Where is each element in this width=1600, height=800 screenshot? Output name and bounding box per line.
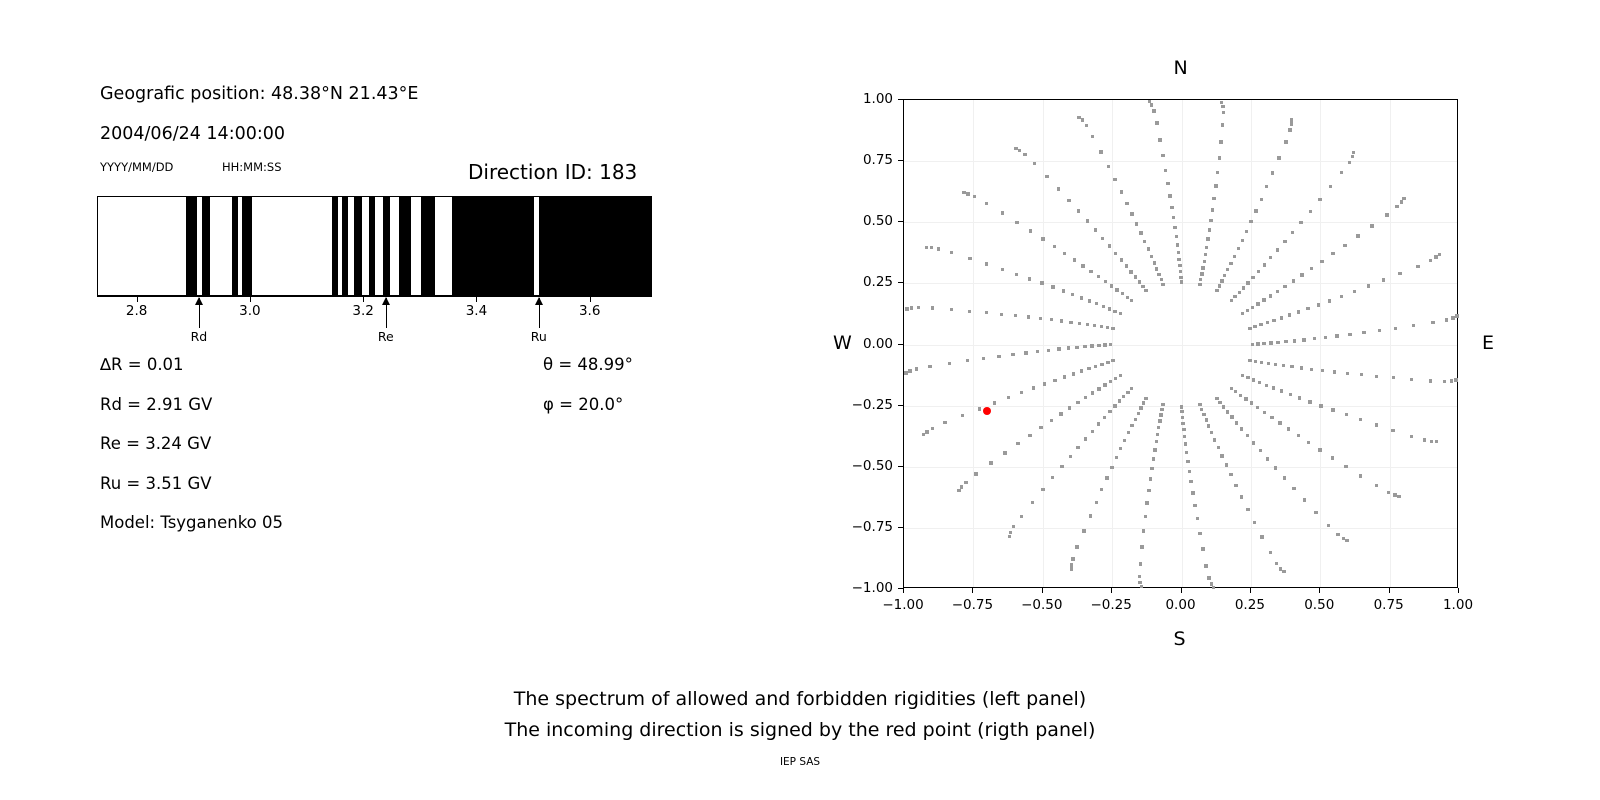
direction-dot xyxy=(1265,384,1268,387)
direction-dot xyxy=(1060,319,1063,322)
direction-dot xyxy=(1257,270,1260,273)
direction-dot xyxy=(1260,198,1263,201)
direction-dot xyxy=(1331,408,1334,411)
direction-dot xyxy=(1230,299,1233,302)
direction-dot xyxy=(1395,205,1398,208)
direction-dot xyxy=(1217,446,1220,449)
y-axis-tick xyxy=(898,282,903,283)
direction-dot xyxy=(1184,442,1187,445)
param-theta: θ = 48.99° xyxy=(543,355,633,374)
direction-dot xyxy=(1284,340,1287,343)
direction-dot xyxy=(1103,343,1106,346)
direction-dot xyxy=(1370,224,1373,227)
x-axis-tick-label: 0.00 xyxy=(1165,597,1195,613)
forbidden-band xyxy=(242,197,252,295)
direction-dot xyxy=(908,369,911,372)
direction-dot xyxy=(1198,403,1201,406)
direction-dot xyxy=(1161,154,1164,157)
time-format-hint: HH:MM:SS xyxy=(222,160,282,174)
direction-dot xyxy=(1100,488,1103,491)
x-axis-tick xyxy=(1458,588,1459,593)
direction-dot xyxy=(1223,274,1226,277)
direction-dot xyxy=(1091,430,1094,433)
direction-dot xyxy=(1196,517,1199,520)
direction-dot xyxy=(964,481,967,484)
direction-dot xyxy=(1331,252,1334,255)
direction-dot xyxy=(1259,323,1262,326)
compass-east-label: E xyxy=(1482,332,1494,354)
direction-dot xyxy=(968,257,971,260)
direction-dot xyxy=(1199,278,1202,281)
direction-dot xyxy=(1120,190,1123,193)
direction-dot xyxy=(1177,251,1180,254)
direction-dot xyxy=(925,430,928,433)
direction-dot xyxy=(1402,197,1405,200)
forbidden-band xyxy=(332,197,337,295)
direction-dot xyxy=(1111,327,1114,330)
direction-dot xyxy=(1382,278,1385,281)
direction-dot xyxy=(1047,349,1050,352)
direction-dot xyxy=(1282,570,1285,573)
direction-dot xyxy=(1020,515,1023,518)
direction-dot xyxy=(974,472,977,475)
direction-dot xyxy=(1106,326,1109,329)
direction-dot xyxy=(937,247,940,250)
rigidity-axis: 2.83.03.23.43.6RdReRu xyxy=(97,296,652,348)
direction-dot xyxy=(1340,295,1343,298)
direction-dot xyxy=(1272,319,1275,322)
direction-dot xyxy=(1256,406,1259,409)
direction-dot xyxy=(1078,322,1081,325)
x-axis-tick-label: 1.00 xyxy=(1443,597,1473,613)
forbidden-band xyxy=(452,197,534,295)
direction-dot xyxy=(985,311,988,314)
direction-dot xyxy=(1359,418,1362,421)
direction-dot xyxy=(1155,121,1158,124)
direction-dot xyxy=(1014,147,1017,150)
direction-dot xyxy=(1113,404,1116,407)
direction-dot xyxy=(1053,379,1056,382)
gridline-horizontal xyxy=(904,467,1457,468)
direction-dot xyxy=(1067,346,1070,349)
direction-dot xyxy=(1443,380,1446,383)
direction-dot xyxy=(1271,171,1274,174)
direction-dot xyxy=(973,195,976,198)
direction-dot xyxy=(1226,410,1229,413)
direction-dot xyxy=(1185,451,1188,454)
direction-dot xyxy=(1253,325,1256,328)
axis-tick xyxy=(137,296,138,302)
direction-dot xyxy=(1241,374,1244,377)
direction-dot xyxy=(1291,231,1294,234)
direction-dot xyxy=(1101,237,1104,240)
direction-dot xyxy=(997,355,1000,358)
direction-dot xyxy=(1292,487,1295,490)
direction-dot xyxy=(1246,376,1249,379)
direction-dot xyxy=(1039,317,1042,320)
direction-dot xyxy=(1093,324,1096,327)
direction-dot xyxy=(985,262,988,265)
direction-dot xyxy=(1269,551,1272,554)
direction-dot xyxy=(1391,429,1394,432)
direction-dot xyxy=(1225,463,1228,466)
caption-line-1: The spectrum of allowed and forbidden ri… xyxy=(0,688,1600,710)
direction-dot xyxy=(1429,259,1432,262)
gridline-vertical xyxy=(1320,100,1321,587)
direction-dot xyxy=(1410,378,1413,381)
direction-dot xyxy=(1155,267,1158,270)
direction-dot xyxy=(1230,415,1233,418)
direction-dot xyxy=(1263,263,1266,266)
spectrum-bar-container xyxy=(97,196,652,296)
direction-dot xyxy=(1288,313,1291,316)
direction-dot xyxy=(1193,504,1196,507)
direction-dot xyxy=(1321,369,1324,372)
direction-dot xyxy=(1182,428,1185,431)
axis-tick-label: 3.2 xyxy=(352,303,373,319)
direction-dot xyxy=(1249,220,1252,223)
direction-dot xyxy=(1105,476,1108,479)
direction-dot xyxy=(1113,178,1116,181)
direction-dot xyxy=(1438,253,1441,256)
rigidity-spectrum-bar xyxy=(97,196,652,296)
direction-dot xyxy=(1345,539,1348,542)
direction-dot xyxy=(1307,441,1310,444)
y-axis-tick-label: −1.00 xyxy=(820,580,893,596)
direction-dot xyxy=(1226,268,1229,271)
direction-dot xyxy=(904,371,907,374)
direction-dot xyxy=(1319,404,1322,407)
direction-dot xyxy=(961,414,964,417)
direction-dot xyxy=(1172,216,1175,219)
direction-dot xyxy=(1198,283,1201,286)
direction-dot xyxy=(1327,524,1330,527)
direction-dot xyxy=(1214,184,1217,187)
direction-dot xyxy=(1091,135,1094,138)
direction-dot xyxy=(1135,222,1138,225)
direction-dot xyxy=(1221,105,1224,108)
marker-label: Ru xyxy=(531,329,547,344)
direction-dot xyxy=(1251,276,1254,279)
direction-dot xyxy=(1161,283,1164,286)
forbidden-band xyxy=(186,197,197,295)
direction-dot xyxy=(966,359,969,362)
direction-dot xyxy=(1036,350,1039,353)
direction-dot xyxy=(1240,495,1243,498)
x-axis-tick-label: −0.25 xyxy=(1090,597,1131,613)
direction-dot xyxy=(1020,391,1023,394)
direction-dot xyxy=(1158,419,1161,422)
direction-dot xyxy=(1333,370,1336,373)
direction-dot xyxy=(1375,484,1378,487)
direction-dot xyxy=(1276,248,1279,251)
x-axis-tick-label: −0.75 xyxy=(952,597,993,613)
direction-dot xyxy=(1263,411,1266,414)
direction-dot xyxy=(1205,418,1208,421)
direction-dot xyxy=(1220,454,1223,457)
direction-dot xyxy=(922,433,925,436)
direction-dot xyxy=(1008,535,1011,538)
direction-dot xyxy=(1011,353,1014,356)
direction-dot xyxy=(1282,364,1285,367)
x-axis-tick xyxy=(903,588,904,593)
direction-dot xyxy=(1262,298,1265,301)
direction-dot xyxy=(1183,435,1186,438)
direction-dot xyxy=(1348,333,1351,336)
direction-dot xyxy=(1150,467,1153,470)
direction-dot xyxy=(1033,162,1036,165)
direction-dot xyxy=(1412,324,1415,327)
direction-dot xyxy=(1450,379,1453,382)
direction-dot xyxy=(1086,323,1089,326)
direction-dot xyxy=(950,251,953,254)
y-axis-tick xyxy=(898,405,903,406)
date-format-hint: YYYY/MM/DD xyxy=(100,160,173,174)
direction-dot xyxy=(1160,408,1163,411)
direction-dot xyxy=(1320,260,1323,263)
direction-dot xyxy=(1152,109,1155,112)
direction-dot xyxy=(1145,501,1148,504)
y-axis-tick-label: 0.75 xyxy=(820,152,893,168)
direction-dot xyxy=(1051,285,1054,288)
direction-dot xyxy=(1001,268,1004,271)
direction-dot xyxy=(1246,281,1249,284)
direction-dot xyxy=(1211,208,1214,211)
direction-dot xyxy=(1218,401,1221,404)
y-axis-tick xyxy=(898,344,903,345)
direction-dot xyxy=(1204,253,1207,256)
y-axis-tick xyxy=(898,527,903,528)
direction-dot xyxy=(1216,171,1219,174)
direction-dot xyxy=(1387,491,1390,494)
gridline-vertical xyxy=(973,100,974,587)
direction-dot xyxy=(1029,229,1032,232)
direction-dot xyxy=(1100,325,1103,328)
direction-dot xyxy=(1099,150,1102,153)
direction-dot xyxy=(1142,401,1145,404)
direction-dot xyxy=(1269,294,1272,297)
direction-dot xyxy=(1274,466,1277,469)
direction-dot xyxy=(1158,138,1161,141)
direction-dot xyxy=(1180,280,1183,283)
direction-dot xyxy=(1299,221,1302,224)
direction-dot xyxy=(1015,273,1018,276)
param-model: Model: Tsyganenko 05 xyxy=(100,513,283,532)
direction-dot xyxy=(1308,400,1311,403)
direction-dot xyxy=(1367,284,1370,287)
direction-dot xyxy=(1241,312,1244,315)
forbidden-band xyxy=(354,197,362,295)
direction-dot xyxy=(957,489,960,492)
arrow-up-icon xyxy=(535,297,543,305)
direction-dot xyxy=(1253,521,1256,524)
direction-dot xyxy=(1276,290,1279,293)
direction-dot xyxy=(1234,484,1237,487)
direction-dot xyxy=(930,246,933,249)
direction-dot xyxy=(1085,124,1088,127)
direction-dot xyxy=(1229,473,1232,476)
direction-dot xyxy=(1246,434,1249,437)
direction-dot xyxy=(1378,329,1381,332)
direction-dot xyxy=(1303,498,1306,501)
direction-dot xyxy=(1057,187,1060,190)
direction-dot xyxy=(1094,228,1097,231)
direction-dot xyxy=(1429,379,1432,382)
direction-dot xyxy=(1075,545,1078,548)
y-axis-tick-label: −0.25 xyxy=(820,397,893,413)
axis-tick xyxy=(250,296,251,302)
direction-dot xyxy=(1310,368,1313,371)
direction-dot xyxy=(1041,488,1044,491)
x-axis-tick xyxy=(972,588,973,593)
direction-dot xyxy=(948,362,951,365)
direction-dot xyxy=(1397,495,1400,498)
x-axis-tick-label: −0.50 xyxy=(1021,597,1062,613)
direction-map-panel: −1.00−0.75−0.50−0.250.000.250.500.751.00… xyxy=(820,40,1520,660)
direction-dot xyxy=(1398,272,1401,275)
direction-dot xyxy=(1455,314,1458,317)
direction-dot xyxy=(1063,252,1066,255)
direction-dot xyxy=(1083,345,1086,348)
direction-dot xyxy=(1280,316,1283,319)
direction-dot xyxy=(1073,258,1076,261)
rigidity-spectrum-panel: Geografic position: 48.38°N 21.43°E 2004… xyxy=(0,0,760,680)
y-axis-tick-label: 0.00 xyxy=(820,336,893,352)
datetime-label: 2004/06/24 14:00:00 xyxy=(100,124,285,144)
direction-dot xyxy=(1109,343,1112,346)
direction-dot xyxy=(1352,151,1355,154)
direction-dot xyxy=(1147,247,1150,250)
direction-dot xyxy=(1201,266,1204,269)
direction-dot xyxy=(1283,476,1286,479)
direction-dot xyxy=(1155,440,1158,443)
direction-dot xyxy=(1416,265,1419,268)
direction-dot xyxy=(1075,346,1078,349)
x-axis-tick-label: 0.50 xyxy=(1304,597,1334,613)
direction-dot xyxy=(1108,410,1111,413)
direction-dot xyxy=(1260,361,1263,364)
direction-dot xyxy=(1283,240,1286,243)
direction-dot xyxy=(1344,465,1347,468)
direction-dot xyxy=(1205,246,1208,249)
direction-dot xyxy=(1201,547,1204,550)
direction-dot xyxy=(1114,377,1117,380)
direction-dot xyxy=(1153,261,1156,264)
direction-dot xyxy=(1053,245,1056,248)
direction-dot xyxy=(1300,366,1303,369)
direction-dot xyxy=(1244,397,1247,400)
marker-label: Rd xyxy=(191,329,208,344)
gridline-vertical xyxy=(1043,100,1044,587)
direction-dot xyxy=(1177,258,1180,261)
direction-dot xyxy=(1251,306,1254,309)
direction-dot xyxy=(1077,116,1080,119)
direction-dot xyxy=(1130,299,1133,302)
direction-dot xyxy=(985,202,988,205)
direction-dot xyxy=(1110,466,1113,469)
geographic-position-label: Geografic position: 48.38°N 21.43°E xyxy=(100,84,418,104)
direction-dot xyxy=(1024,351,1027,354)
direction-dot xyxy=(1028,277,1031,280)
direction-dot xyxy=(1240,427,1243,430)
direction-dot xyxy=(1016,442,1019,445)
direction-dot xyxy=(1086,219,1089,222)
direction-dot xyxy=(962,191,965,194)
direction-dot xyxy=(993,401,996,404)
direction-dot xyxy=(1262,342,1265,345)
direction-dot xyxy=(1108,244,1111,247)
direction-dot xyxy=(1203,260,1206,263)
direction-dot xyxy=(1100,363,1103,366)
direction-dot xyxy=(1129,270,1132,273)
direction-dot xyxy=(1318,448,1321,451)
y-axis-tick-label: 0.50 xyxy=(820,213,893,229)
direction-dot xyxy=(1040,281,1043,284)
direction-dot xyxy=(1150,255,1153,258)
caption-line-2: The incoming direction is signed by the … xyxy=(0,719,1600,741)
direction-dot xyxy=(1080,296,1083,299)
y-axis-tick-label: −0.50 xyxy=(820,458,893,474)
arrow-up-icon xyxy=(382,297,390,305)
direction-dot xyxy=(1290,118,1293,121)
direction-dot xyxy=(917,306,920,309)
direction-dot xyxy=(1134,418,1137,421)
direction-dot xyxy=(1283,285,1286,288)
direction-dot xyxy=(1140,585,1143,588)
y-axis-tick xyxy=(898,99,903,100)
direction-plot-area xyxy=(903,99,1458,588)
direction-dot xyxy=(1140,545,1143,548)
direction-dot xyxy=(1070,567,1073,570)
direction-dot xyxy=(1218,284,1221,287)
direction-dot xyxy=(931,427,934,430)
direction-dot xyxy=(1360,373,1363,376)
direction-dot xyxy=(1431,321,1434,324)
direction-dot xyxy=(1191,491,1194,494)
x-axis-tick-label: −1.00 xyxy=(882,597,923,613)
x-axis-tick xyxy=(1181,588,1182,593)
direction-dot xyxy=(1062,289,1065,292)
direction-dot xyxy=(1139,231,1142,234)
direction-dot xyxy=(1212,197,1215,200)
direction-dot xyxy=(1104,280,1107,283)
direction-dot xyxy=(1220,101,1223,104)
direction-dot xyxy=(989,461,992,464)
direction-dot xyxy=(1157,426,1160,429)
y-axis-tick xyxy=(898,466,903,467)
direction-dot xyxy=(1051,476,1054,479)
direction-dot xyxy=(1359,474,1362,477)
direction-dot xyxy=(1331,456,1334,459)
direction-dot xyxy=(1127,431,1130,434)
direction-dot xyxy=(950,308,953,311)
direction-dot xyxy=(1254,209,1257,212)
direction-dot xyxy=(1246,309,1249,312)
direction-dot xyxy=(1142,529,1145,532)
direction-dot xyxy=(1125,264,1128,267)
direction-dot xyxy=(1179,270,1182,273)
direction-dot xyxy=(1041,237,1044,240)
direction-dot xyxy=(1328,299,1331,302)
direction-dot xyxy=(1297,310,1300,313)
direction-dot xyxy=(1222,405,1225,408)
direction-dot xyxy=(1106,361,1109,364)
direction-dot xyxy=(1266,457,1269,460)
direction-dot xyxy=(1219,140,1222,143)
direction-dot xyxy=(1139,562,1142,565)
direction-dot xyxy=(1089,514,1092,517)
direction-dot xyxy=(1410,435,1413,438)
